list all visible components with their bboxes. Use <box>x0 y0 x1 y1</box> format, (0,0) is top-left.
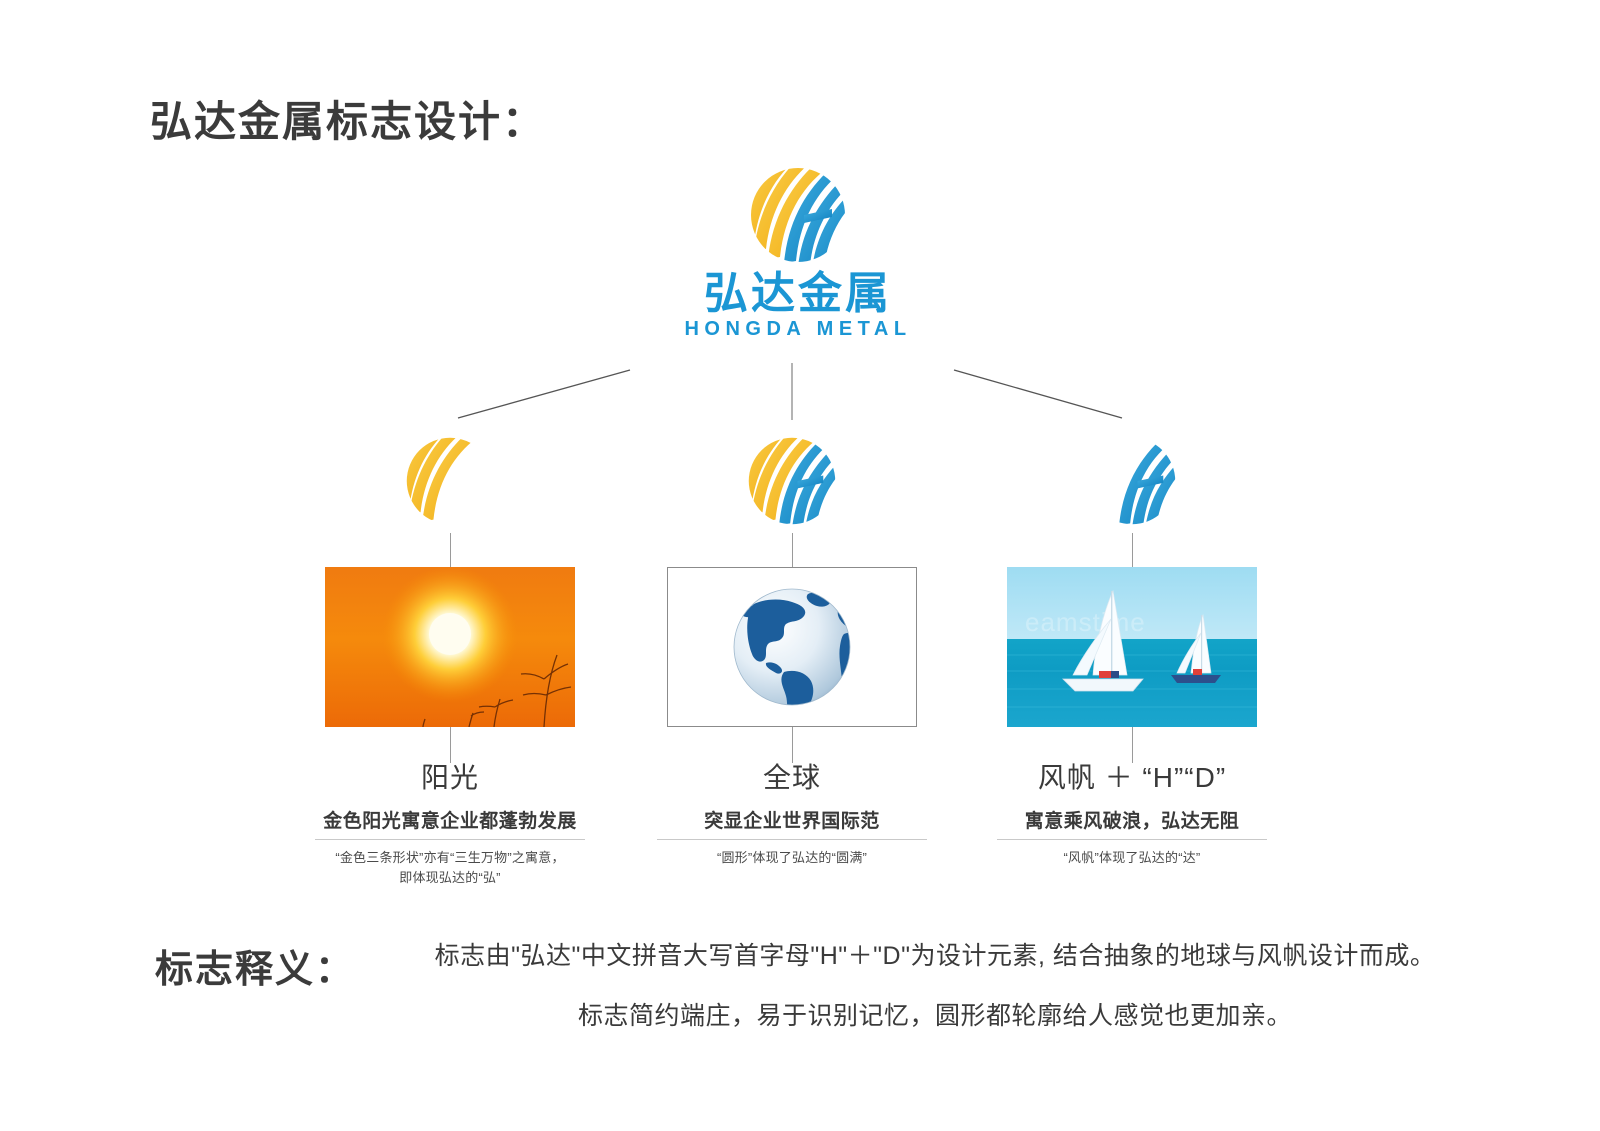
concept-subtitle: 金色阳光寓意企业都蓬勃发展 <box>323 806 577 833</box>
concept-note-line: 即体现弘达的“弘” <box>335 868 564 888</box>
logo-chinese-name: 弘达金属 <box>704 271 892 317</box>
connector-stem <box>1132 533 1133 567</box>
concept-column-global: 全球 突显企业世界国际范 “圆形”体现了弘达的“圆满” <box>622 435 962 868</box>
concept-title: 全球 <box>763 763 821 794</box>
explanation-label: 标志释义： <box>155 938 355 993</box>
concept-note: “金色三条形状”亦有“三生万物”之寓意， 即体现弘达的“弘” <box>335 848 564 888</box>
explanation-line: 标志简约端庄，易于识别记忆，圆形都轮廓给人感觉也更加亲。 <box>430 1000 1440 1034</box>
concept-note: “风帆”体现了弘达的“达” <box>1064 848 1201 868</box>
full-globe-mark <box>746 435 838 527</box>
logo-english-name: HONGDA METAL <box>684 318 911 341</box>
explanation-body: 标志由"弘达"中文拼音大写首字母"H"＋"D"为设计元素, 结合抽象的地球与风帆… <box>430 940 1440 1034</box>
concept-note-line: “金色三条形状”亦有“三生万物”之寓意， <box>335 848 564 868</box>
divider <box>657 839 927 840</box>
concept-subtitle: 突显企业世界国际范 <box>704 806 880 833</box>
slide-canvas: 弘达金属标志设计： <box>0 0 1600 1131</box>
explanation-line: 标志由"弘达"中文拼音大写首字母"H"＋"D"为设计元素, 结合抽象的地球与风帆… <box>430 940 1440 974</box>
gold-sun-stripes-mark <box>404 435 496 527</box>
svg-text:eamstime: eamstime <box>1025 607 1146 637</box>
concept-title: 阳光 <box>421 763 479 794</box>
master-logo: 弘达金属 HONGDA METAL <box>648 165 948 360</box>
divider <box>997 839 1267 840</box>
concept-column-sail: eamstime <box>962 435 1302 868</box>
concept-note-line: “圆形”体现了弘达的“圆满” <box>717 848 867 868</box>
connector-stem-lower <box>792 727 793 763</box>
concept-subtitle: 寓意乘风破浪，弘达无阻 <box>1025 806 1240 833</box>
connector-stem <box>450 533 451 567</box>
concept-column-sunshine: 阳光 金色阳光寓意企业都蓬勃发展 “金色三条形状”亦有“三生万物”之寓意， 即体… <box>280 435 620 888</box>
hongda-globe-mark <box>748 165 848 265</box>
divider <box>315 839 585 840</box>
blue-sail-hd-mark <box>1086 435 1178 527</box>
page-title: 弘达金属标志设计： <box>150 88 546 149</box>
concept-title: 风帆 ＋ “H”“D” <box>1038 763 1226 794</box>
sailboats-photo: eamstime <box>1007 567 1257 727</box>
earth-globe-photo <box>667 567 917 727</box>
concept-note-line: “风帆”体现了弘达的“达” <box>1064 848 1201 868</box>
connector-stem-lower <box>1132 727 1133 763</box>
sunset-photo <box>325 567 575 727</box>
connector-stem-lower <box>450 727 451 763</box>
concept-note: “圆形”体现了弘达的“圆满” <box>717 848 867 868</box>
connector-stem <box>792 533 793 567</box>
